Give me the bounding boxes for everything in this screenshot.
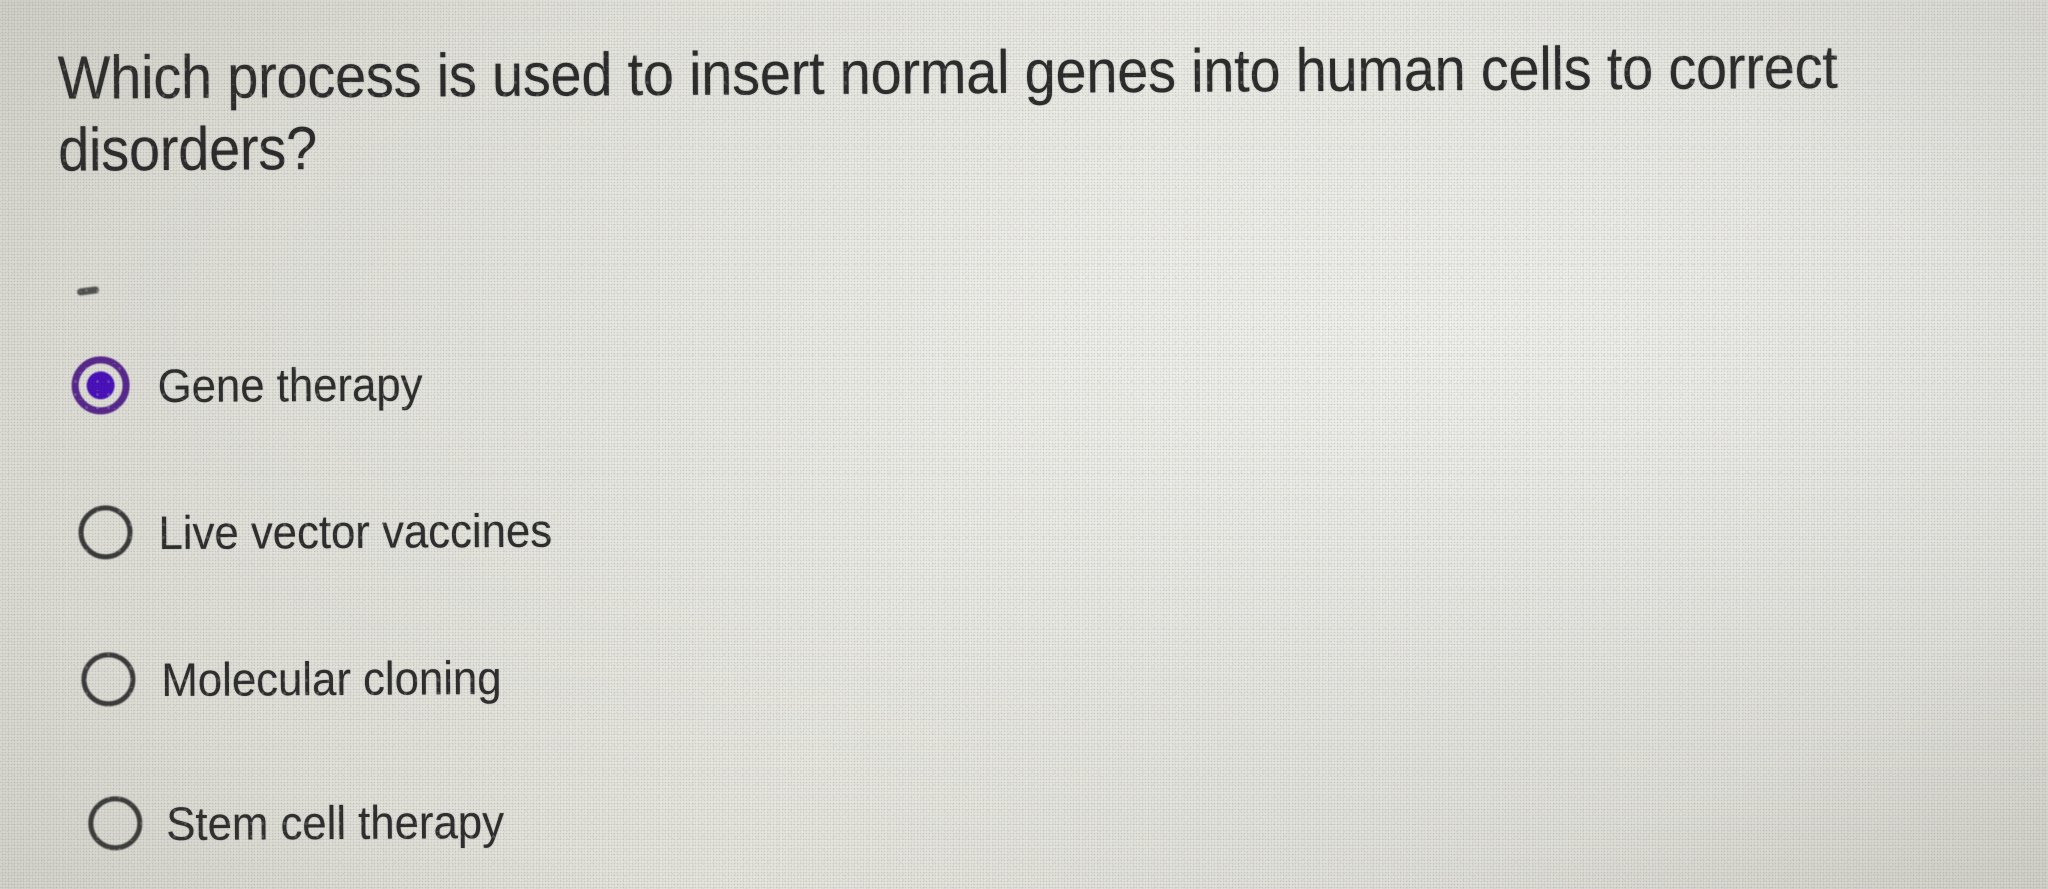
radio-unselected-icon[interactable] <box>88 796 142 850</box>
radio-selected-icon[interactable] <box>71 356 129 414</box>
answer-option-label: Stem cell therapy <box>166 797 504 846</box>
answer-option-gene-therapy[interactable]: Gene therapy <box>71 348 442 420</box>
answer-option-label: Molecular cloning <box>161 653 501 702</box>
answer-option-stem-cell-therapy[interactable]: Stem cell therapy <box>88 786 530 859</box>
question-content: Which process is used to insert normal g… <box>0 0 2048 889</box>
radio-unselected-icon[interactable] <box>78 505 132 559</box>
question-text: Which process is used to insert normal g… <box>58 32 1852 187</box>
radio-unselected-icon[interactable] <box>81 652 135 706</box>
answer-option-molecular-cloning[interactable]: Molecular cloning <box>81 642 527 715</box>
answer-option-label: Live vector vaccines <box>158 506 552 555</box>
answer-option-live-vector-vaccines[interactable]: Live vector vaccines <box>78 494 582 567</box>
answer-option-label: Gene therapy <box>157 360 422 409</box>
question-screen: Which process is used to insert normal g… <box>0 0 2048 889</box>
stray-ink-mark <box>77 286 100 296</box>
